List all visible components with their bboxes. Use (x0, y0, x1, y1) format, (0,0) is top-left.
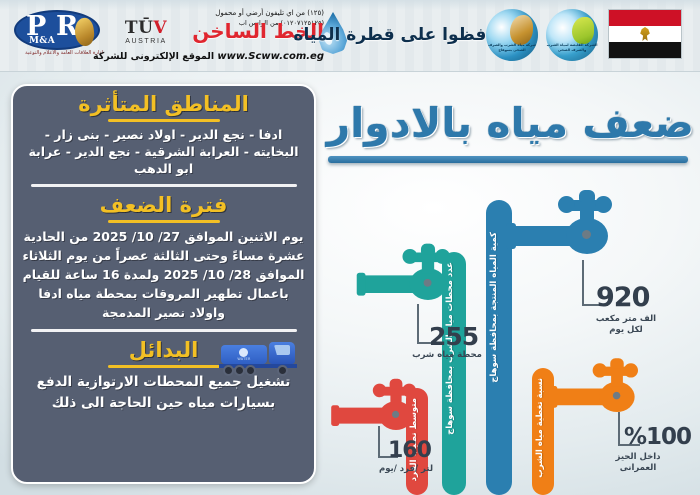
pharaoh-emblem-icon (73, 17, 96, 47)
faucet-drip-dot (582, 230, 591, 239)
caption-coverage-ratio: داخل الحيز العمرانى (592, 452, 684, 474)
header-slogan: حافظوا على قطرة المياه (350, 18, 505, 52)
value-treatment-plants: 255 (429, 324, 478, 349)
caption-water-produced: الف متر مكعب لكل يوم (578, 314, 674, 336)
pr-logo-oval: P R M&A (14, 10, 100, 50)
section-outage-period-heading: فترة الضعف (22, 192, 305, 218)
faucet-drip-dot (392, 411, 399, 418)
page-title-underline (328, 156, 688, 163)
holding-company-logo: الشركة القابضة لمياه الشرب والصرف الصحى (546, 9, 598, 61)
panel-divider-1 (31, 184, 297, 187)
holding-company-logo-caption: الشركة القابضة لمياه الشرب والصرف الصحى (546, 43, 598, 52)
section-alternatives: WATER البدائل تشغيل جميع المحطات الارتوا… (22, 337, 305, 414)
panel-divider-2 (31, 329, 297, 332)
section-affected-areas-body: ادفا - نجع الدير - اولاد نصير - بنى زار … (22, 126, 305, 177)
page-title-text: ضعف مياه بالادوار العليا (322, 92, 694, 154)
website-row: www.Scww.com.eg الموقع الإلكترونى للشركة (176, 51, 324, 62)
faucet-coverage-ratio (554, 370, 635, 415)
value-water-produced: 920 (596, 284, 649, 311)
callout-per-capita-share: 160 لتر /فرد /يوم (378, 426, 478, 486)
hotline-line-1: (١٢٥) من اي تليفون أرضي أو محمول (176, 8, 324, 18)
tuv-logo-text: TŪV (118, 20, 174, 37)
infographic-page: P R M&A ادارة العلاقات العامة والاعلام و… (0, 0, 700, 495)
section-outage-period: فترة الضعف يوم الاثنين الموافق 27/ 10/ 2… (22, 192, 305, 322)
callout-water-produced: 920 الف متر مكعب لكل يوم (582, 260, 692, 334)
faucet-stats-group: كمية المياه المنتجة بمحافظة سوهاج 920 ال… (320, 176, 700, 495)
section-outage-period-rule (108, 220, 220, 223)
header-bar: P R M&A ادارة العلاقات العامة والاعلام و… (0, 0, 700, 72)
section-affected-areas-heading: المناطق المتأثرة (22, 91, 305, 117)
tuv-logo-subtext: AUSTRIA (118, 38, 174, 45)
faucet-water-produced (512, 204, 632, 266)
faucet-drip-dot (424, 279, 432, 287)
sohag-water-company-logo: شركة مياه الشرب والصرف الصحى بسوهاج (486, 9, 538, 61)
section-outage-period-body: يوم الاثنين الموافق 27/ 10/ 2025 من الحا… (22, 227, 305, 322)
egypt-flag-icon (608, 9, 682, 59)
info-panel: المناطق المتأثرة ادفا - نجع الدير - اولا… (11, 84, 316, 484)
caption-per-capita-share: لتر /فرد /يوم (362, 464, 450, 475)
tuv-austria-logo: TŪV AUSTRIA (118, 20, 174, 45)
water-tanker-truck-icon: WATER (219, 339, 303, 375)
sohag-water-company-logo-caption: شركة مياه الشرب والصرف الصحى بسوهاج (486, 43, 538, 52)
page-title: ضعف مياه بالادوار العليا (322, 92, 694, 174)
section-affected-areas: المناطق المتأثرة ادفا - نجع الدير - اولا… (22, 91, 305, 177)
truck-word: WATER (232, 357, 256, 361)
faucet-drip-dot (613, 392, 621, 400)
website-label: الموقع الإلكترونى للشركة (93, 51, 214, 62)
faucet-treatment-plants (362, 256, 454, 305)
section-affected-areas-rule (108, 119, 220, 122)
truck-emblem-icon (239, 348, 248, 357)
section-alternatives-body: تشغيل جميع المحطات الارتوازية الدفع بسيا… (22, 372, 305, 414)
section-alternatives-rule (108, 365, 220, 368)
caption-treatment-plants: محطة مياه شرب (399, 350, 495, 361)
value-coverage-ratio: %100 (624, 426, 691, 449)
pr-logo-letters-ma: M&A (29, 37, 55, 46)
pr-ma-logo: P R M&A ادارة العلاقات العامة والاعلام و… (8, 8, 120, 56)
website-url[interactable]: www.Scww.com.eg (217, 51, 324, 62)
pipe-label-coverage-ratio: نسبة تغطية مياه الشرب (535, 378, 545, 478)
value-per-capita-share: 160 (388, 440, 431, 462)
callout-coverage-ratio: %100 داخل الحيز العمرانى (618, 412, 700, 478)
callout-treatment-plants: 255 محطة مياه شرب (417, 304, 527, 370)
